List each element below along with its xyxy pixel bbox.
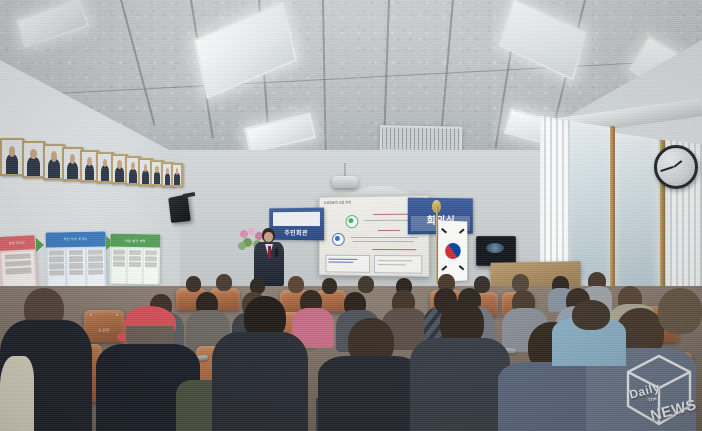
wall-chart-green: 마을 발전 계획 [110, 234, 161, 285]
audience-head [322, 278, 337, 294]
seat-stud [116, 314, 118, 316]
wall-chart-blue-title: 주민 자치 조직도 [64, 237, 88, 241]
seat-label: 고성면 [98, 328, 110, 334]
wall-chart-red: 운영 조직도 [0, 235, 37, 289]
taeguk-symbol [442, 240, 464, 262]
flag-trigram [441, 228, 447, 233]
audience-scarf [0, 356, 34, 431]
audience-body [410, 338, 510, 431]
watermark-daily-news: The Daily NEWS [620, 352, 698, 428]
slide-heading-line [372, 249, 416, 251]
flag-trigram [441, 265, 447, 270]
window-pane [614, 133, 658, 298]
chart-column [48, 249, 66, 288]
chart-column [67, 248, 85, 287]
blue-circle-logo [332, 233, 345, 246]
framed-portrait [22, 141, 45, 178]
flower [238, 242, 246, 250]
audience-body [212, 332, 308, 431]
chart-column [112, 249, 127, 284]
audience-body [318, 356, 422, 431]
seat-stud [90, 314, 92, 316]
framed-portrait [0, 138, 24, 176]
audience-head [358, 276, 374, 293]
presenter-tie [268, 246, 271, 258]
wall-chart-blue: 주민 자치 조직도 [46, 231, 107, 288]
slide-text-line [350, 237, 418, 238]
flag-trigram [459, 265, 464, 270]
clock-minute-hand [660, 166, 674, 172]
clock-hour-hand [673, 160, 682, 168]
portrait-gallery [0, 132, 178, 194]
wall-chart-green-title: 마을 발전 계획 [125, 238, 146, 242]
banner-left-panel [273, 212, 320, 226]
slide-table-cell [325, 255, 370, 273]
meeting-room-photograph: 운영 조직도 주민 자치 조직도 마을 발전 계획 신성장동 [0, 0, 702, 431]
window-mullion [610, 126, 615, 295]
slide-text-line [352, 241, 414, 243]
slide-heading-line [378, 230, 400, 231]
flower [240, 230, 248, 238]
framed-portrait [171, 163, 183, 187]
wall-chart-red-title: 운영 조직도 [9, 240, 26, 245]
chart-column [128, 249, 143, 284]
slide-title: 신성장동력 산업 전략 [324, 200, 352, 204]
wall-clock [654, 145, 698, 189]
flag-trigram [459, 229, 464, 234]
microphone-icon [275, 248, 278, 257]
audience-head [216, 274, 232, 291]
korean-national-flag [438, 220, 467, 281]
audience-head [288, 276, 304, 293]
ceiling-projector [332, 176, 358, 188]
chart-column [1, 251, 35, 289]
audience-head [186, 276, 201, 292]
hvac-ceiling-vent [380, 125, 462, 152]
chart-column [86, 248, 104, 287]
presenter-face [264, 232, 273, 242]
chart-column [144, 249, 159, 284]
audience-head [658, 288, 702, 334]
chart-arrow-icon [36, 238, 44, 252]
green-circle-logo [346, 215, 359, 228]
audience-head [572, 300, 610, 330]
wall-speaker [168, 194, 190, 223]
